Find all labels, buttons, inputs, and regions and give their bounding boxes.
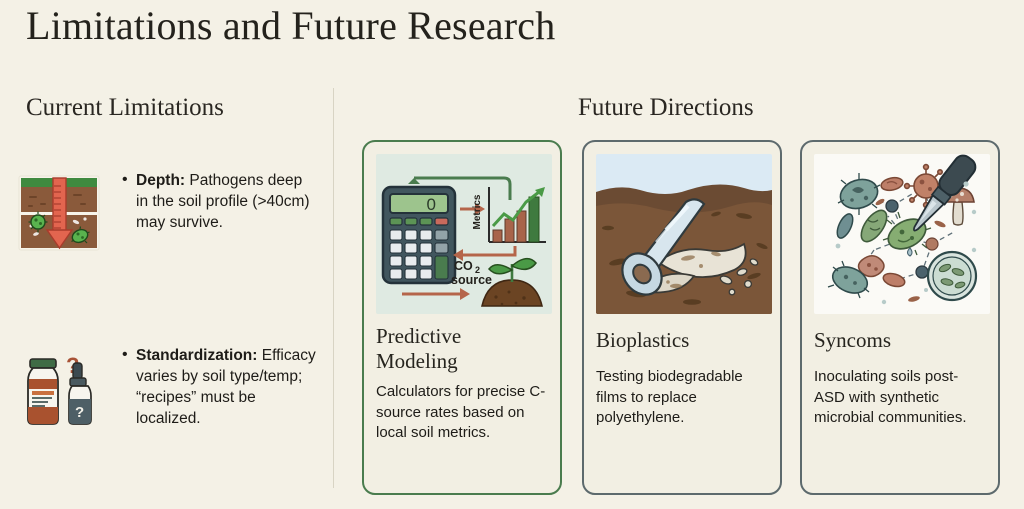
limitation-text: •Standardization: Efficacy varies by soi… (122, 345, 318, 429)
card-title: Syncoms (814, 328, 986, 353)
card-body: Testing biodegradable films to replace p… (596, 367, 768, 429)
svg-text:0: 0 (427, 195, 436, 214)
future-direction-card-predictive-modeling[interactable]: 0 (362, 140, 562, 495)
bullet-marker: • (122, 169, 128, 190)
future-direction-card-bioplastics[interactable]: Bioplastics Testing biodegradable films … (582, 140, 782, 495)
limitation-item: •Depth: Pathogens deep in the soil profi… (18, 170, 318, 254)
limitation-item: ? ? •Standardization: Efficacy varies by… (18, 345, 318, 429)
soil-depth-arrow-icon (18, 172, 100, 254)
svg-text:Metrics: Metrics (472, 194, 483, 229)
svg-text:?: ? (75, 404, 84, 421)
future-direction-card-syncoms[interactable]: Syncoms Inoculating soils post-ASD with … (800, 140, 1000, 495)
microbial-community-dropper-illustration (814, 154, 990, 314)
plastic-film-roll-on-soil-illustration (596, 154, 772, 314)
limitation-term: Standardization: (136, 347, 257, 364)
limitation-text: •Depth: Pathogens deep in the soil profi… (122, 170, 318, 233)
svg-text:CO: CO (454, 259, 473, 273)
card-title: Bioplastics (596, 328, 768, 353)
card-body: Calculators for precise C-source rates b… (376, 382, 548, 444)
calculator-metrics-soil-illustration: 0 (376, 154, 552, 314)
section-heading-current-limitations: Current Limitations (26, 94, 224, 122)
page-title: Limitations and Future Research (26, 2, 555, 49)
card-body: Inoculating soils post-ASD with syntheti… (814, 367, 986, 429)
limitation-term: Depth: (136, 172, 185, 189)
column-divider (333, 88, 334, 488)
card-title: Predictive Modeling (376, 324, 548, 374)
svg-text:source: source (451, 273, 492, 287)
slide-canvas: Limitations and Future Research Current … (0, 0, 1024, 509)
bullet-marker: • (122, 344, 128, 365)
section-heading-future-directions: Future Directions (578, 94, 754, 122)
bottles-question-icon: ? ? (18, 347, 100, 429)
